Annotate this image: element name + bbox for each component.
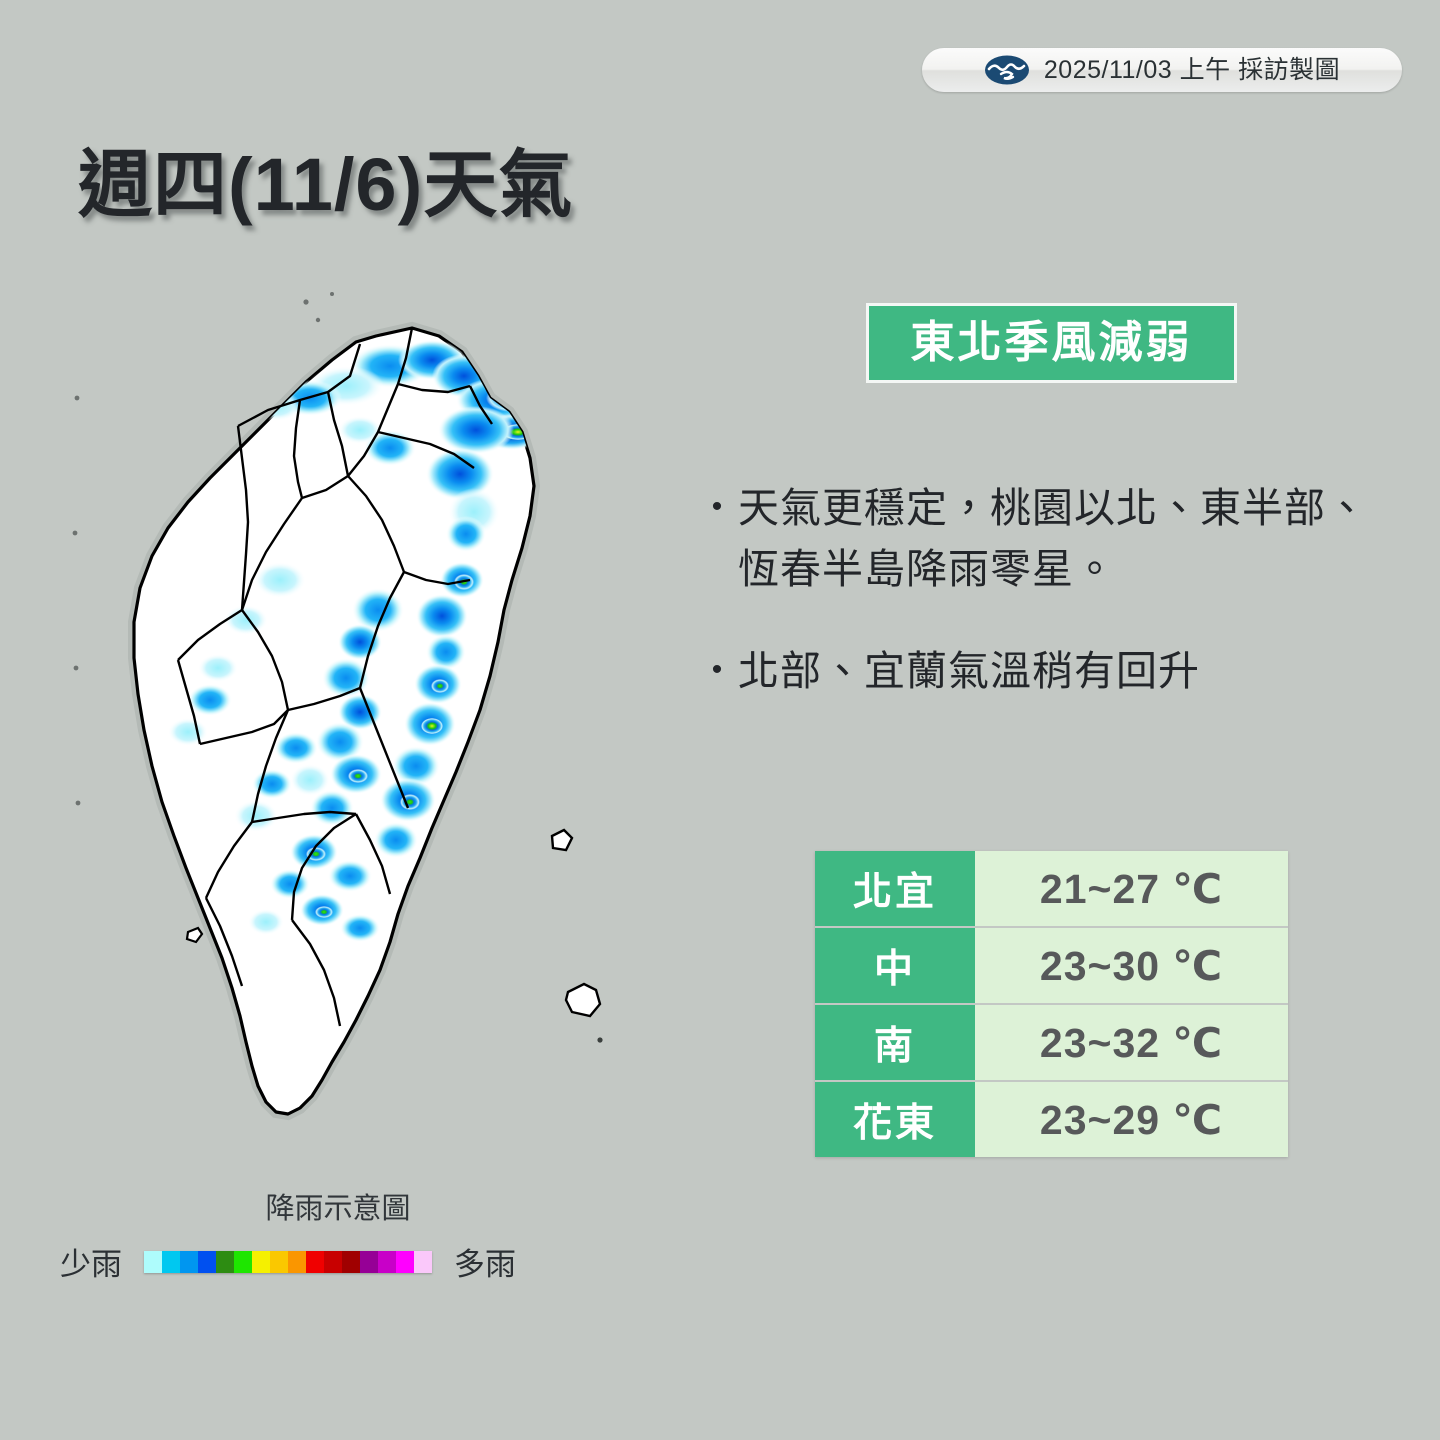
summary-bullet-list: • 天氣更穩定，桃園以北、東半部、恆春半島降雨零星。 • 北部、宜蘭氣溫稍有回升 — [706, 478, 1406, 744]
temp-region-label: 中 — [815, 927, 975, 1004]
legend-swatch-12 — [360, 1251, 378, 1273]
bullet-dot-icon: • — [706, 492, 728, 522]
legend-swatch-5 — [234, 1251, 252, 1273]
legend-swatch-1 — [162, 1251, 180, 1273]
list-item: • 北部、宜蘭氣溫稍有回升 — [706, 641, 1406, 702]
temp-range-value: 23~32 ℃ — [975, 1004, 1288, 1081]
legend-high-label: 多雨 — [454, 1239, 516, 1284]
legend-swatch-0 — [144, 1251, 162, 1273]
rainfall-legend: 降雨示意圖 少雨 多雨 — [60, 1185, 620, 1290]
legend-swatch-4 — [216, 1251, 234, 1273]
legend-color-bar — [144, 1251, 432, 1273]
temp-range-value: 21~27 ℃ — [975, 851, 1288, 927]
headline-text: 東北季風減弱 — [911, 321, 1193, 365]
legend-swatch-15 — [414, 1251, 432, 1273]
temp-range-value: 23~29 ℃ — [975, 1081, 1288, 1157]
temp-region-label: 花東 — [815, 1081, 975, 1157]
bullet-text: 天氣更穩定，桃園以北、東半部、恆春半島降雨零星。 — [738, 478, 1406, 599]
temp-region-label: 南 — [815, 1004, 975, 1081]
legend-swatch-13 — [378, 1251, 396, 1273]
date-badge-text: 2025/11/03 上午 採訪製圖 — [1044, 58, 1340, 83]
legend-swatch-14 — [396, 1251, 414, 1273]
date-badge: 2025/11/03 上午 採訪製圖 — [922, 48, 1402, 92]
temperature-table: 北宜 21~27 ℃ 中 23~30 ℃ 南 23~32 ℃ 花東 23~29 … — [815, 851, 1288, 1157]
legend-swatch-7 — [270, 1251, 288, 1273]
temp-region-label: 北宜 — [815, 851, 975, 927]
legend-title: 降雨示意圖 — [218, 1185, 458, 1227]
rainfall-map — [60, 280, 700, 1180]
legend-swatch-8 — [288, 1251, 306, 1273]
headline-banner: 東北季風減弱 — [866, 303, 1237, 383]
table-row: 北宜 21~27 ℃ — [815, 851, 1288, 927]
legend-swatch-9 — [306, 1251, 324, 1273]
legend-swatch-6 — [252, 1251, 270, 1273]
legend-low-label: 少雨 — [60, 1239, 122, 1284]
table-row: 花東 23~29 ℃ — [815, 1081, 1288, 1157]
temp-range-value: 23~30 ℃ — [975, 927, 1288, 1004]
legend-swatch-10 — [324, 1251, 342, 1273]
wave-cloud-logo-icon — [984, 55, 1030, 85]
table-row: 南 23~32 ℃ — [815, 1004, 1288, 1081]
legend-swatch-2 — [180, 1251, 198, 1273]
list-item: • 天氣更穩定，桃園以北、東半部、恆春半島降雨零星。 — [706, 478, 1406, 599]
rainfall-map-svg — [60, 280, 700, 1180]
table-row: 中 23~30 ℃ — [815, 927, 1288, 1004]
bullet-text: 北部、宜蘭氣溫稍有回升 — [738, 641, 1200, 702]
legend-swatch-3 — [198, 1251, 216, 1273]
bullet-dot-icon: • — [706, 655, 728, 685]
page-title: 週四(11/6)天氣 — [78, 146, 573, 224]
legend-swatch-11 — [342, 1251, 360, 1273]
